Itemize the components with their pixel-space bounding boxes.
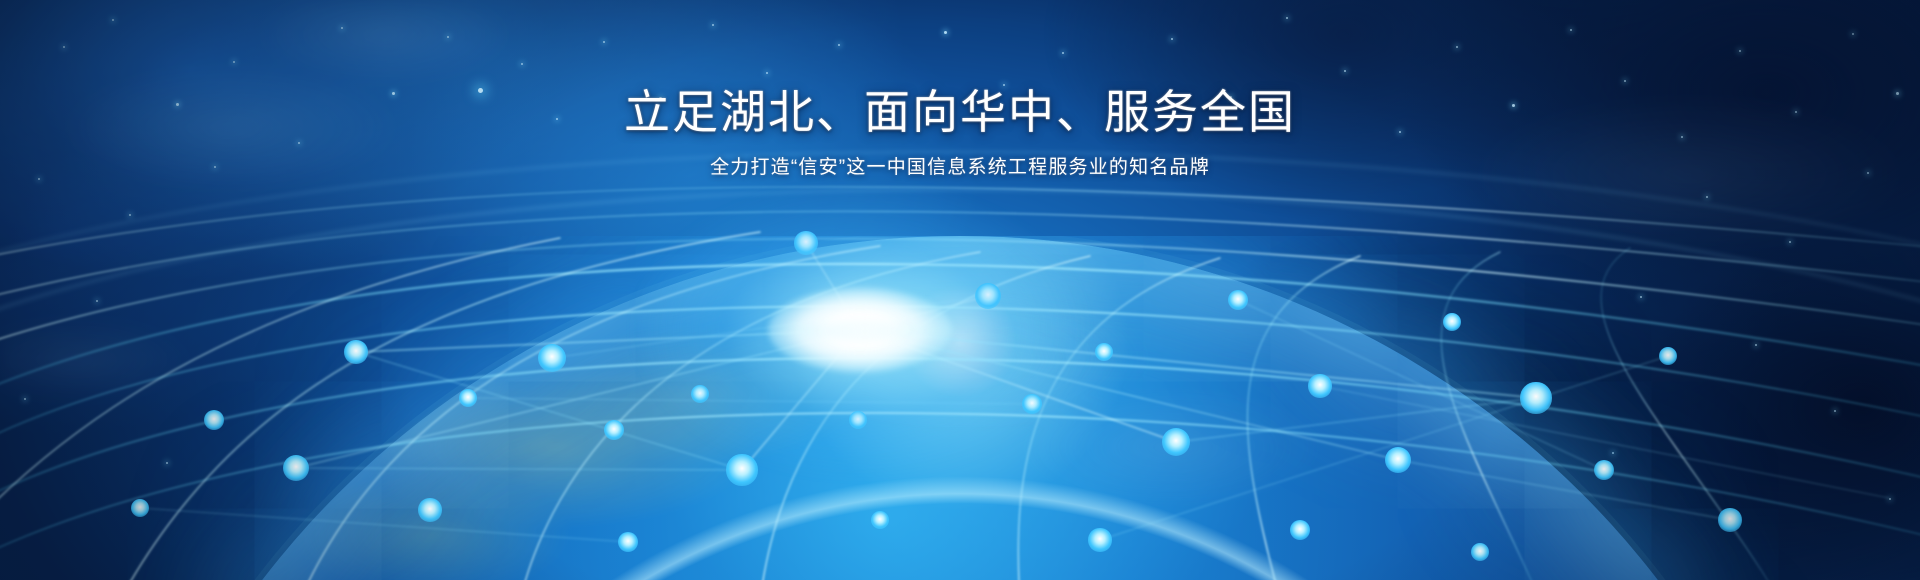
banner-subheadline: 全力打造“信安”这一中国信息系统工程服务业的知名品牌 bbox=[0, 154, 1920, 182]
banner-text-block: 立足湖北、面向华中、服务全国 全力打造“信安”这一中国信息系统工程服务业的知名品… bbox=[0, 84, 1920, 182]
banner-headline: 立足湖北、面向华中、服务全国 bbox=[0, 84, 1920, 140]
hero-banner: 立足湖北、面向华中、服务全国 全力打造“信安”这一中国信息系统工程服务业的知名品… bbox=[0, 0, 1920, 580]
